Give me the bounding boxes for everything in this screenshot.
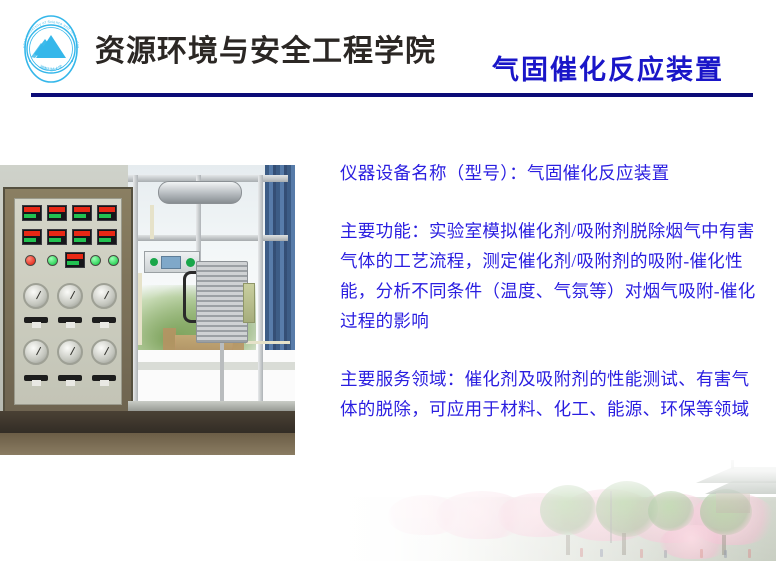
indicator-lamp-green[interactable] [108, 255, 119, 266]
gas-tube [138, 273, 142, 345]
cherry-blossom-tree [660, 525, 730, 559]
cherry-blossom-tree [498, 493, 582, 537]
valve-handle[interactable] [58, 375, 82, 381]
controller-display [161, 256, 181, 269]
furnace-side-panel [243, 283, 255, 323]
cabinet-front-panel [14, 198, 122, 405]
pressure-gauge [57, 339, 83, 365]
visitor-figure [580, 548, 583, 557]
ground-strip [330, 497, 776, 561]
valve-handle[interactable] [92, 375, 116, 381]
control-knob [186, 258, 195, 267]
cherry-blossom-tree [436, 491, 528, 539]
temperature-controller-display[interactable] [47, 205, 67, 221]
reactor-outlet-tube [220, 343, 224, 403]
pressure-gauge [57, 283, 83, 309]
window-sill [128, 362, 295, 370]
service-field-paragraph: 主要服务领域：催化剂及吸附剂的性能测试、有害气体的脱除，可应用于材料、化工、能源… [340, 364, 764, 424]
cherry-blossom-tree [560, 489, 656, 541]
green-tree [648, 491, 694, 531]
tree-trunk [722, 535, 726, 555]
gas-tube [150, 205, 154, 239]
equipment-name-paragraph: 仪器设备名称（型号）：气固催化反应装置 [340, 158, 764, 188]
visitor-figure [724, 550, 727, 558]
chinese-pavilion [696, 467, 770, 513]
valve-handle[interactable] [24, 375, 48, 381]
visitor-figure [748, 549, 751, 558]
pressure-gauge [91, 339, 117, 365]
green-tree [596, 481, 658, 537]
visitor-figure [640, 549, 643, 558]
cherry-blossom-tree [690, 493, 776, 545]
campus-scenery-watermark [0, 446, 776, 561]
pavilion-upper-roof [696, 467, 776, 483]
frame-post [258, 175, 263, 407]
slide: Hunan University of Science and Technolo… [0, 0, 776, 561]
campus-scenery-art [0, 446, 776, 561]
pressure-gauge [23, 283, 49, 309]
slide-header: Hunan University of Science and Technolo… [0, 0, 776, 95]
main-function-paragraph: 主要功能：实验室模拟催化剂/吸附剂脱除烟气中有害气体的工艺流程，测定催化剂/吸附… [340, 216, 764, 336]
stainless-reactor-vessel [158, 181, 242, 204]
temperature-controller-display[interactable] [72, 229, 92, 245]
college-name-title: 资源环境与安全工程学院 [95, 26, 436, 70]
pressure-gauge [91, 283, 117, 309]
valve-handle[interactable] [92, 317, 116, 323]
indicator-lamp-red[interactable] [25, 255, 36, 266]
temperature-controller-display[interactable] [47, 229, 67, 245]
flow-controller-box [144, 251, 200, 273]
visitor-figure [664, 550, 667, 558]
sky-backdrop [0, 446, 776, 561]
header-divider-rule [31, 93, 753, 97]
tubular-heating-furnace [196, 261, 248, 343]
pavilion-lower-roof [705, 481, 776, 494]
green-tree [540, 485, 596, 535]
temperature-controller-display[interactable] [97, 205, 117, 221]
visitor-figure [600, 549, 603, 557]
temperature-controller-display[interactable] [22, 229, 42, 245]
visitor-figure [700, 549, 703, 558]
lamp-post [610, 491, 612, 543]
university-logo-icon: Hunan University of Science and Technolo… [16, 14, 86, 84]
pavilion-body [716, 493, 750, 513]
indicator-lamp-green[interactable] [47, 255, 58, 266]
valve-handle[interactable] [58, 317, 82, 323]
tree-trunk [566, 535, 570, 555]
indicator-lamp-green[interactable] [90, 255, 101, 266]
cherry-blossom-tree [628, 493, 716, 543]
watermark-fade-vertical [0, 446, 776, 561]
control-knob [150, 258, 158, 266]
temperature-controller-display[interactable] [72, 205, 92, 221]
green-tree [700, 489, 752, 535]
tree-trunk [622, 533, 626, 555]
setpoint-display[interactable] [65, 252, 85, 268]
cherry-blossom-tree [388, 495, 462, 535]
watermark-fade-horizontal [0, 446, 776, 561]
pressure-gauge [23, 339, 49, 365]
gas-tube [246, 341, 290, 344]
page-title: 气固催化反应装置 [492, 48, 724, 87]
equipment-photo [0, 165, 295, 455]
temperature-controller-display[interactable] [97, 229, 117, 245]
bench-base [0, 433, 295, 455]
pavilion-spire [731, 460, 734, 469]
valve-handle[interactable] [24, 317, 48, 323]
equipment-description: 仪器设备名称（型号）：气固催化反应装置 主要功能：实验室模拟催化剂/吸附剂脱除烟… [340, 158, 764, 424]
control-cabinet [3, 187, 133, 414]
temperature-controller-display[interactable] [22, 205, 42, 221]
